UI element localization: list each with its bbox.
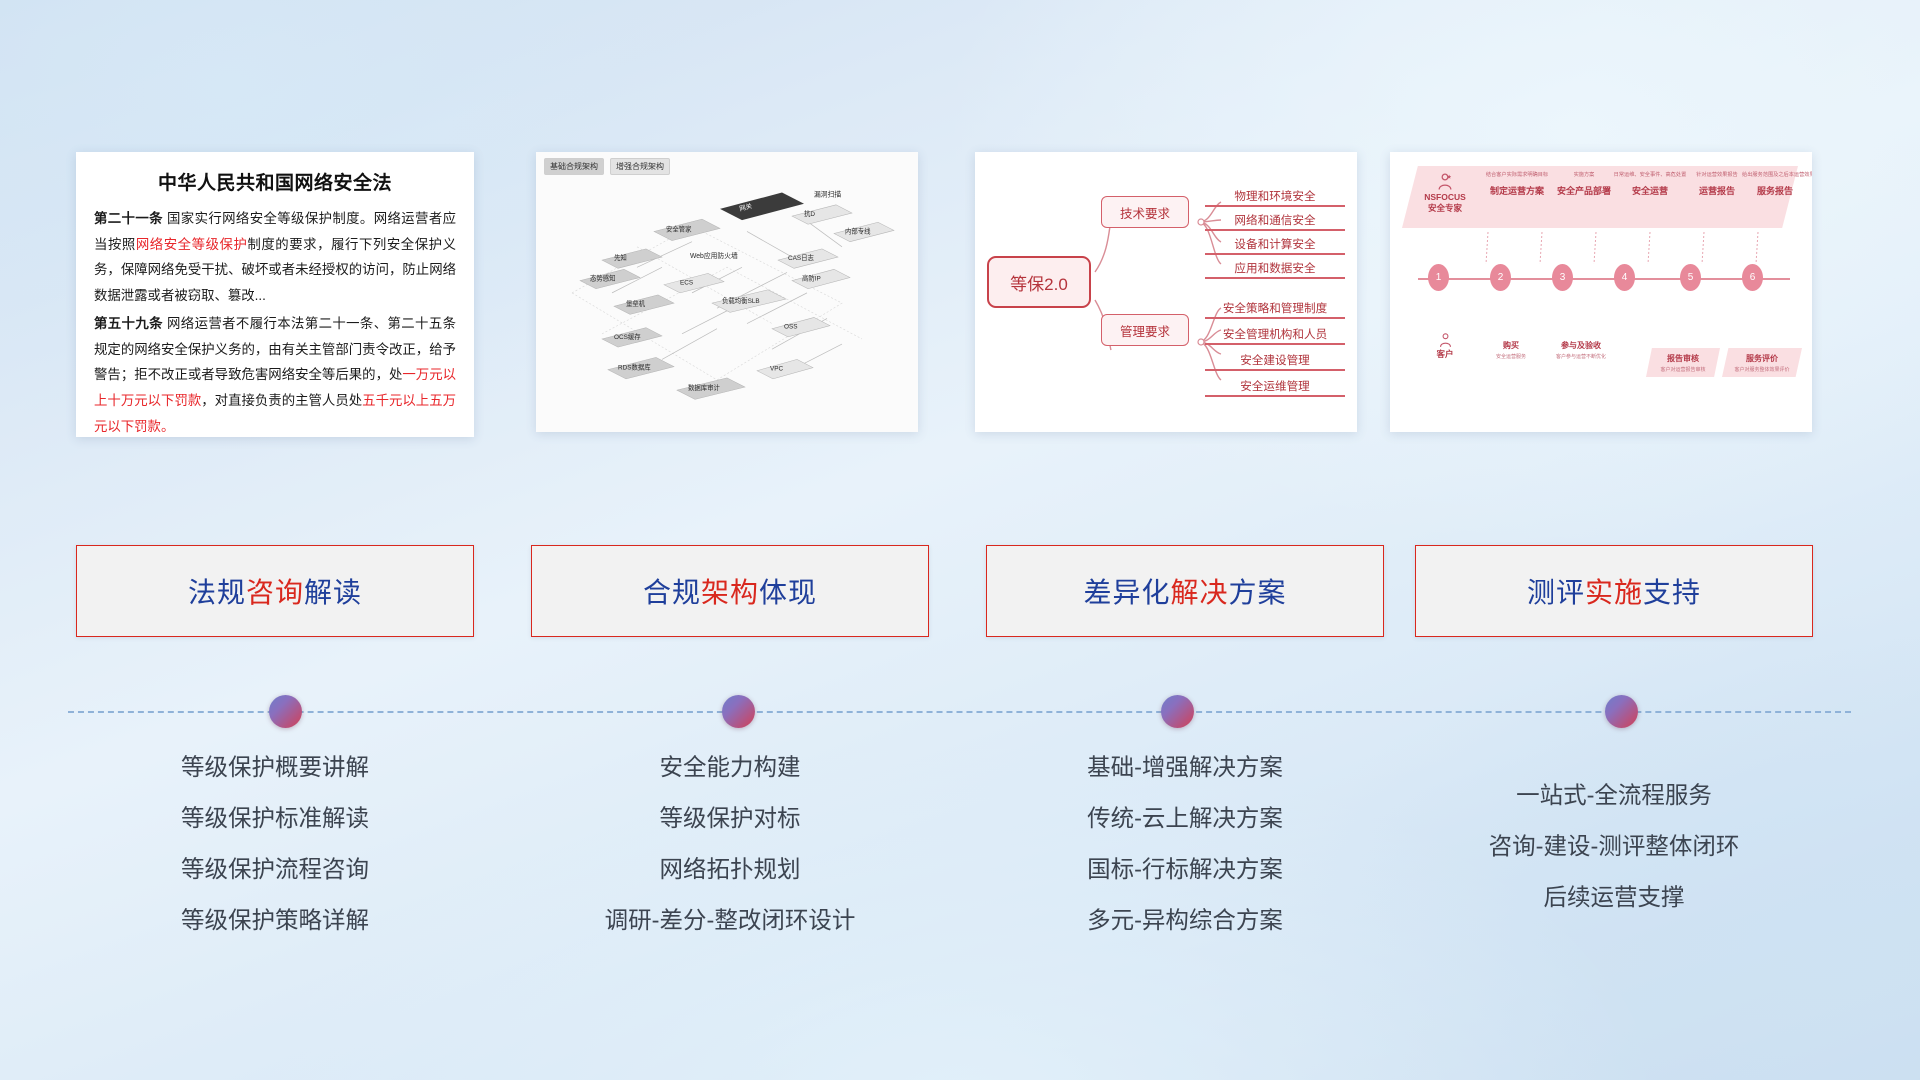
mindmap-branch-management: 管理要求: [1101, 314, 1189, 346]
svg-text:CAS日志: CAS日志: [788, 253, 814, 262]
article-59-label: 第五十九条: [94, 316, 163, 331]
list-item: 后续运营支撑: [1415, 872, 1813, 923]
nsfocus-brand-subtitle: 安全专家: [1414, 203, 1476, 214]
heading-3-part-3: 方案: [1229, 571, 1287, 611]
nsfocus-step-2-name: 安全产品部署: [1550, 184, 1618, 197]
nsfocus-footer-3-sub: 客户对运营报告审核: [1656, 366, 1710, 373]
heading-box-compliance-architecture[interactable]: 合规架构体现: [531, 545, 929, 637]
mindmap-leaf-tech-2: 网络和通信安全: [1205, 210, 1345, 231]
mindmap-leaf-tech-1: 物理和环境安全: [1205, 186, 1345, 207]
mindmap-leaf-mgmt-2: 安全管理机构和人员: [1205, 324, 1345, 345]
heading-1-part-1: 法规: [188, 571, 246, 611]
nsfocus-dot-4: 4: [1614, 264, 1635, 291]
card-dengbao-mindmap: 等保2.0 技术要求 管理要求 物理和环境安全 网络和通信安全 设备和计算安全 …: [975, 152, 1357, 432]
svg-text:安全管家: 安全管家: [666, 224, 692, 233]
law-article-59: 第五十九条 网络运营者不履行本法第二十一条、第二十五条规定的网络安全保护义务的，…: [94, 311, 456, 437]
timeline-dot-4[interactable]: [1605, 695, 1638, 728]
svg-text:OSS: OSS: [784, 324, 798, 331]
nsfocus-step-4-name: 运营报告: [1686, 184, 1748, 197]
heading-box-regulation-consulting[interactable]: 法规咨询解读: [76, 545, 474, 637]
nsfocus-footer-2: 参与及验收 客户参与运营不断优化: [1542, 340, 1620, 360]
heading-2-part-2: 架构: [701, 571, 759, 611]
mindmap-center-node: 等保2.0: [987, 256, 1091, 308]
heading-1-part-2: 咨询: [246, 571, 304, 611]
nsfocus-brand: NSFOCUS 安全专家: [1414, 172, 1476, 213]
nsfocus-step-3-name: 安全运营: [1612, 184, 1688, 197]
nsfocus-customer: 客户: [1414, 332, 1476, 360]
nsfocus-footer-3: 报告审核 客户对运营报告审核: [1646, 348, 1720, 377]
svg-text:堡垒机: 堡垒机: [626, 299, 646, 308]
mindmap-leaf-mgmt-4: 安全运维管理: [1205, 376, 1345, 397]
list-item: 等级保护标准解读: [76, 793, 474, 844]
nsfocus-flow: NSFOCUS 安全专家 结合客户实际需求明确目标 制定运营方案 实施方案 安全…: [1390, 152, 1812, 432]
card-compliance-architecture: 基础合规架构 增强合规架构: [536, 152, 918, 432]
svg-text:抗D: 抗D: [804, 209, 815, 218]
expert-person-icon: [1435, 172, 1455, 192]
architecture-canvas: 网关 先知 态势感知 安全管家: [542, 170, 912, 426]
list-item: 等级保护对标: [531, 793, 929, 844]
timeline-dot-1[interactable]: [269, 695, 302, 728]
nsfocus-footer-3-title: 报告审核: [1656, 353, 1710, 364]
nsfocus-footer-4-title: 服务评价: [1732, 353, 1792, 364]
article-21-label: 第二十一条: [94, 211, 163, 226]
nsfocus-step-4-sub: 针对运营效果报告: [1686, 172, 1748, 179]
mindmap-leaf-tech-4: 应用和数据安全: [1205, 258, 1345, 279]
nsfocus-step-2: 实施方案 安全产品部署: [1550, 172, 1618, 197]
list-item: 调研-差分-整改闭环设计: [531, 895, 929, 946]
nsfocus-axis: [1418, 278, 1790, 280]
article-21-highlight: 网络安全等级保护: [136, 237, 248, 252]
heading-3-part-1: 差异化: [1083, 571, 1170, 611]
nsfocus-dot-5: 5: [1680, 264, 1701, 291]
timeline-dot-2[interactable]: [722, 695, 755, 728]
article-59-text-2: ，对直接负责的主管人员处: [201, 393, 362, 408]
mindmap-leaf-tech-3: 设备和计算安全: [1205, 234, 1345, 255]
nsfocus-footer-4: 服务评价 客户对服务整体效果评价: [1722, 348, 1802, 377]
detail-column-1: 等级保护概要讲解 等级保护标准解读 等级保护流程咨询 等级保护策略详解: [76, 742, 474, 946]
svg-text:RDS数据库: RDS数据库: [618, 363, 651, 372]
list-item: 多元-异构综合方案: [986, 895, 1384, 946]
list-item: 等级保护流程咨询: [76, 844, 474, 895]
detail-column-2: 安全能力构建 等级保护对标 网络拓扑规划 调研-差分-整改闭环设计: [531, 742, 929, 946]
svg-text:负载均衡SLB: 负载均衡SLB: [722, 296, 760, 305]
heading-2-part-3: 体现: [759, 571, 817, 611]
heading-4-part-2: 实施: [1585, 571, 1643, 611]
nsfocus-step-4: 针对运营效果报告 运营报告: [1686, 172, 1748, 197]
list-item: 安全能力构建: [531, 742, 929, 793]
nsfocus-dot-1: 1: [1428, 264, 1449, 291]
mindmap-leaf-mgmt-1: 安全策略和管理制度: [1205, 298, 1345, 319]
heading-2-part-1: 合规: [643, 571, 701, 611]
nsfocus-footer-2-title: 参与及验收: [1542, 340, 1620, 351]
list-item: 咨询-建设-测评整体闭环: [1415, 821, 1813, 872]
list-item: 等级保护概要讲解: [76, 742, 474, 793]
heading-box-evaluation-support[interactable]: 测评实施支持: [1415, 545, 1813, 637]
nsfocus-step-5-sub: 给出服务范围及之后本运营效果: [1742, 172, 1808, 179]
svg-text:先知: 先知: [614, 253, 627, 262]
nsfocus-step-3: 日常运维、安全事件、高危处置 安全运营: [1612, 172, 1688, 197]
slide-canvas: 中华人民共和国网络安全法 第二十一条 国家实行网络安全等级保护制度。网络运营者应…: [0, 0, 1920, 1080]
nsfocus-step-1-sub: 结合客户实际需求明确目标: [1482, 172, 1552, 179]
customer-person-icon: [1437, 332, 1454, 349]
svg-text:VPC: VPC: [770, 366, 783, 373]
mindmap: 等保2.0 技术要求 管理要求 物理和环境安全 网络和通信安全 设备和计算安全 …: [975, 152, 1357, 432]
timeline-dot-3[interactable]: [1161, 695, 1194, 728]
nsfocus-step-5-name: 服务报告: [1742, 184, 1808, 197]
nsfocus-dot-2: 2: [1490, 264, 1511, 291]
detail-column-4: 一站式-全流程服务 咨询-建设-测评整体闭环 后续运营支撑: [1415, 770, 1813, 923]
nsfocus-footer-1-title: 购买: [1482, 340, 1540, 351]
svg-text:高防IP: 高防IP: [802, 274, 821, 283]
svg-text:态势感知: 态势感知: [590, 274, 616, 283]
svg-text:漏洞扫描: 漏洞扫描: [814, 190, 841, 199]
tab-basic-architecture[interactable]: 基础合规架构: [544, 158, 604, 175]
nsfocus-dot-3: 3: [1552, 264, 1573, 291]
mindmap-leaf-mgmt-3: 安全建设管理: [1205, 350, 1345, 371]
svg-text:Web应用防火墙: Web应用防火墙: [690, 251, 738, 260]
detail-column-3: 基础-增强解决方案 传统-云上解决方案 国标-行标解决方案 多元-异构综合方案: [986, 742, 1384, 946]
heading-3-part-2: 解决: [1170, 571, 1228, 611]
nsfocus-brand-name: NSFOCUS: [1414, 192, 1476, 203]
svg-text:ECS: ECS: [680, 280, 694, 287]
heading-box-differentiated-solution[interactable]: 差异化解决方案: [986, 545, 1384, 637]
list-item: 国标-行标解决方案: [986, 844, 1384, 895]
svg-text:数据库审计: 数据库审计: [688, 383, 720, 392]
nsfocus-step-5: 给出服务范围及之后本运营效果 服务报告: [1742, 172, 1808, 197]
nsfocus-footer-2-sub: 客户参与运营不断优化: [1542, 353, 1620, 360]
list-item: 一站式-全流程服务: [1415, 770, 1813, 821]
list-item: 传统-云上解决方案: [986, 793, 1384, 844]
cards-row: 中华人民共和国网络安全法 第二十一条 国家实行网络安全等级保护制度。网络运营者应…: [0, 152, 1920, 437]
svg-text:内部专线: 内部专线: [845, 226, 871, 235]
timeline: [68, 692, 1851, 732]
tab-enhanced-architecture[interactable]: 增强合规架构: [610, 158, 670, 175]
list-item: 等级保护策略详解: [76, 895, 474, 946]
nsfocus-step-1: 结合客户实际需求明确目标 制定运营方案: [1482, 172, 1552, 197]
law-title: 中华人民共和国网络安全法: [94, 168, 456, 195]
list-item: 基础-增强解决方案: [986, 742, 1384, 793]
nsfocus-footer-1-sub: 安全运营服务: [1482, 353, 1540, 360]
nsfocus-step-1-name: 制定运营方案: [1482, 184, 1552, 197]
nsfocus-step-3-sub: 日常运维、安全事件、高危处置: [1612, 172, 1688, 179]
nsfocus-dot-6: 6: [1742, 264, 1763, 291]
heading-4-part-1: 测评: [1527, 571, 1585, 611]
nsfocus-footer-4-sub: 客户对服务整体效果评价: [1732, 366, 1792, 373]
nsfocus-customer-label: 客户: [1414, 349, 1476, 360]
svg-text:OCS缓存: OCS缓存: [614, 332, 641, 341]
nsfocus-step-2-sub: 实施方案: [1550, 172, 1618, 179]
nsfocus-footer-1: 购买 安全运营服务: [1482, 340, 1540, 360]
card-nsfocus-service-flow: NSFOCUS 安全专家 结合客户实际需求明确目标 制定运营方案 实施方案 安全…: [1390, 152, 1812, 432]
architecture-diagram: 基础合规架构 增强合规架构: [536, 152, 918, 432]
law-article-21: 第二十一条 国家实行网络安全等级保护制度。网络运营者应当按照网络安全等级保护制度…: [94, 206, 456, 309]
heading-1-part-3: 解读: [304, 571, 362, 611]
heading-4-part-3: 支持: [1643, 571, 1701, 611]
mindmap-branch-technical: 技术要求: [1101, 196, 1189, 228]
list-item: 网络拓扑规划: [531, 844, 929, 895]
timeline-dashed-line: [68, 711, 1851, 713]
card-cybersecurity-law: 中华人民共和国网络安全法 第二十一条 国家实行网络安全等级保护制度。网络运营者应…: [76, 152, 474, 437]
headings-row: 法规咨询解读 合规架构体现 差异化解决方案 测评实施支持: [0, 545, 1920, 637]
architecture-tabs: 基础合规架构 增强合规架构: [544, 158, 670, 175]
